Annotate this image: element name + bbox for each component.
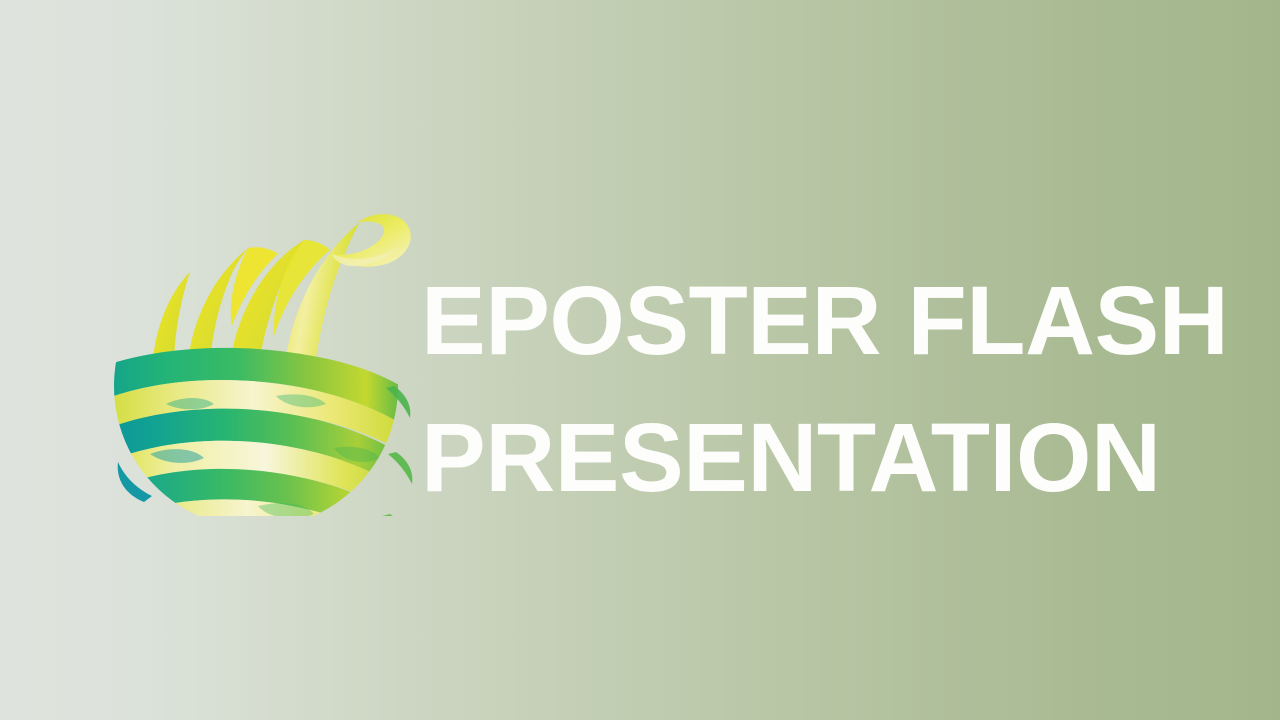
globe-bands bbox=[108, 348, 410, 516]
slide-title-line-2: PRESENTATION bbox=[421, 389, 1211, 526]
slide-title-line-1: EPOSTER FLASH bbox=[421, 252, 1211, 389]
globe-ribbon-logo bbox=[108, 196, 414, 516]
globe-ribbon-logo-svg bbox=[108, 196, 414, 516]
slide-title: EPOSTER FLASH PRESENTATION bbox=[421, 252, 1211, 526]
globe-band-6 bbox=[108, 499, 402, 516]
title-slide: EPOSTER FLASH PRESENTATION bbox=[0, 0, 1280, 720]
